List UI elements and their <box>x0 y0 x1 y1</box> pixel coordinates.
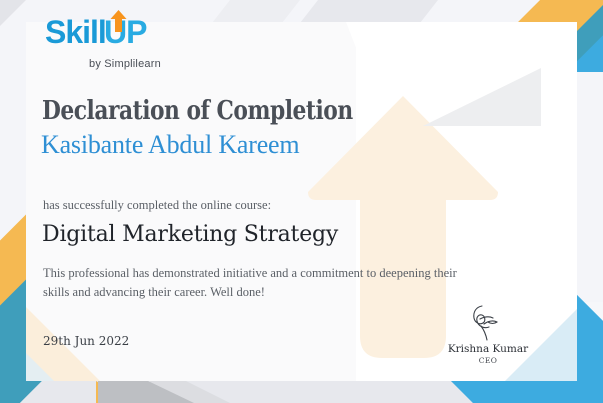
card-grey-triangle <box>423 68 541 126</box>
signature-block: Krishna Kumar CEO <box>428 302 548 365</box>
issue-date: 29th Jun 2022 <box>43 334 129 348</box>
recipient-name: Kasibante Abdul Kareem <box>41 130 299 160</box>
brand-logo: Skill UP by Simplilearn <box>45 10 225 70</box>
certificate-page: Skill UP by Simplilearn Declaration of C… <box>0 0 603 403</box>
certificate-title: Declaration of Completion <box>42 96 353 126</box>
body-text: This professional has demonstrated initi… <box>43 264 483 303</box>
top-grey-stripe <box>301 0 438 22</box>
signatory-name: Krishna Kumar <box>428 343 548 355</box>
right-edge-band <box>577 72 603 302</box>
skillup-logo-icon: Skill UP <box>45 10 175 56</box>
signatory-role: CEO <box>428 356 548 365</box>
svg-text:UP: UP <box>104 14 147 50</box>
course-name: Digital Marketing Strategy <box>42 222 338 247</box>
lead-in-text: has successfully completed the online co… <box>43 198 271 213</box>
svg-text:Skill: Skill <box>45 14 106 50</box>
brand-tagline: by Simplilearn <box>89 58 225 70</box>
top-left-grey-corner <box>0 0 26 26</box>
card-pale-corner <box>26 353 54 381</box>
handwritten-signature-icon <box>460 302 516 342</box>
